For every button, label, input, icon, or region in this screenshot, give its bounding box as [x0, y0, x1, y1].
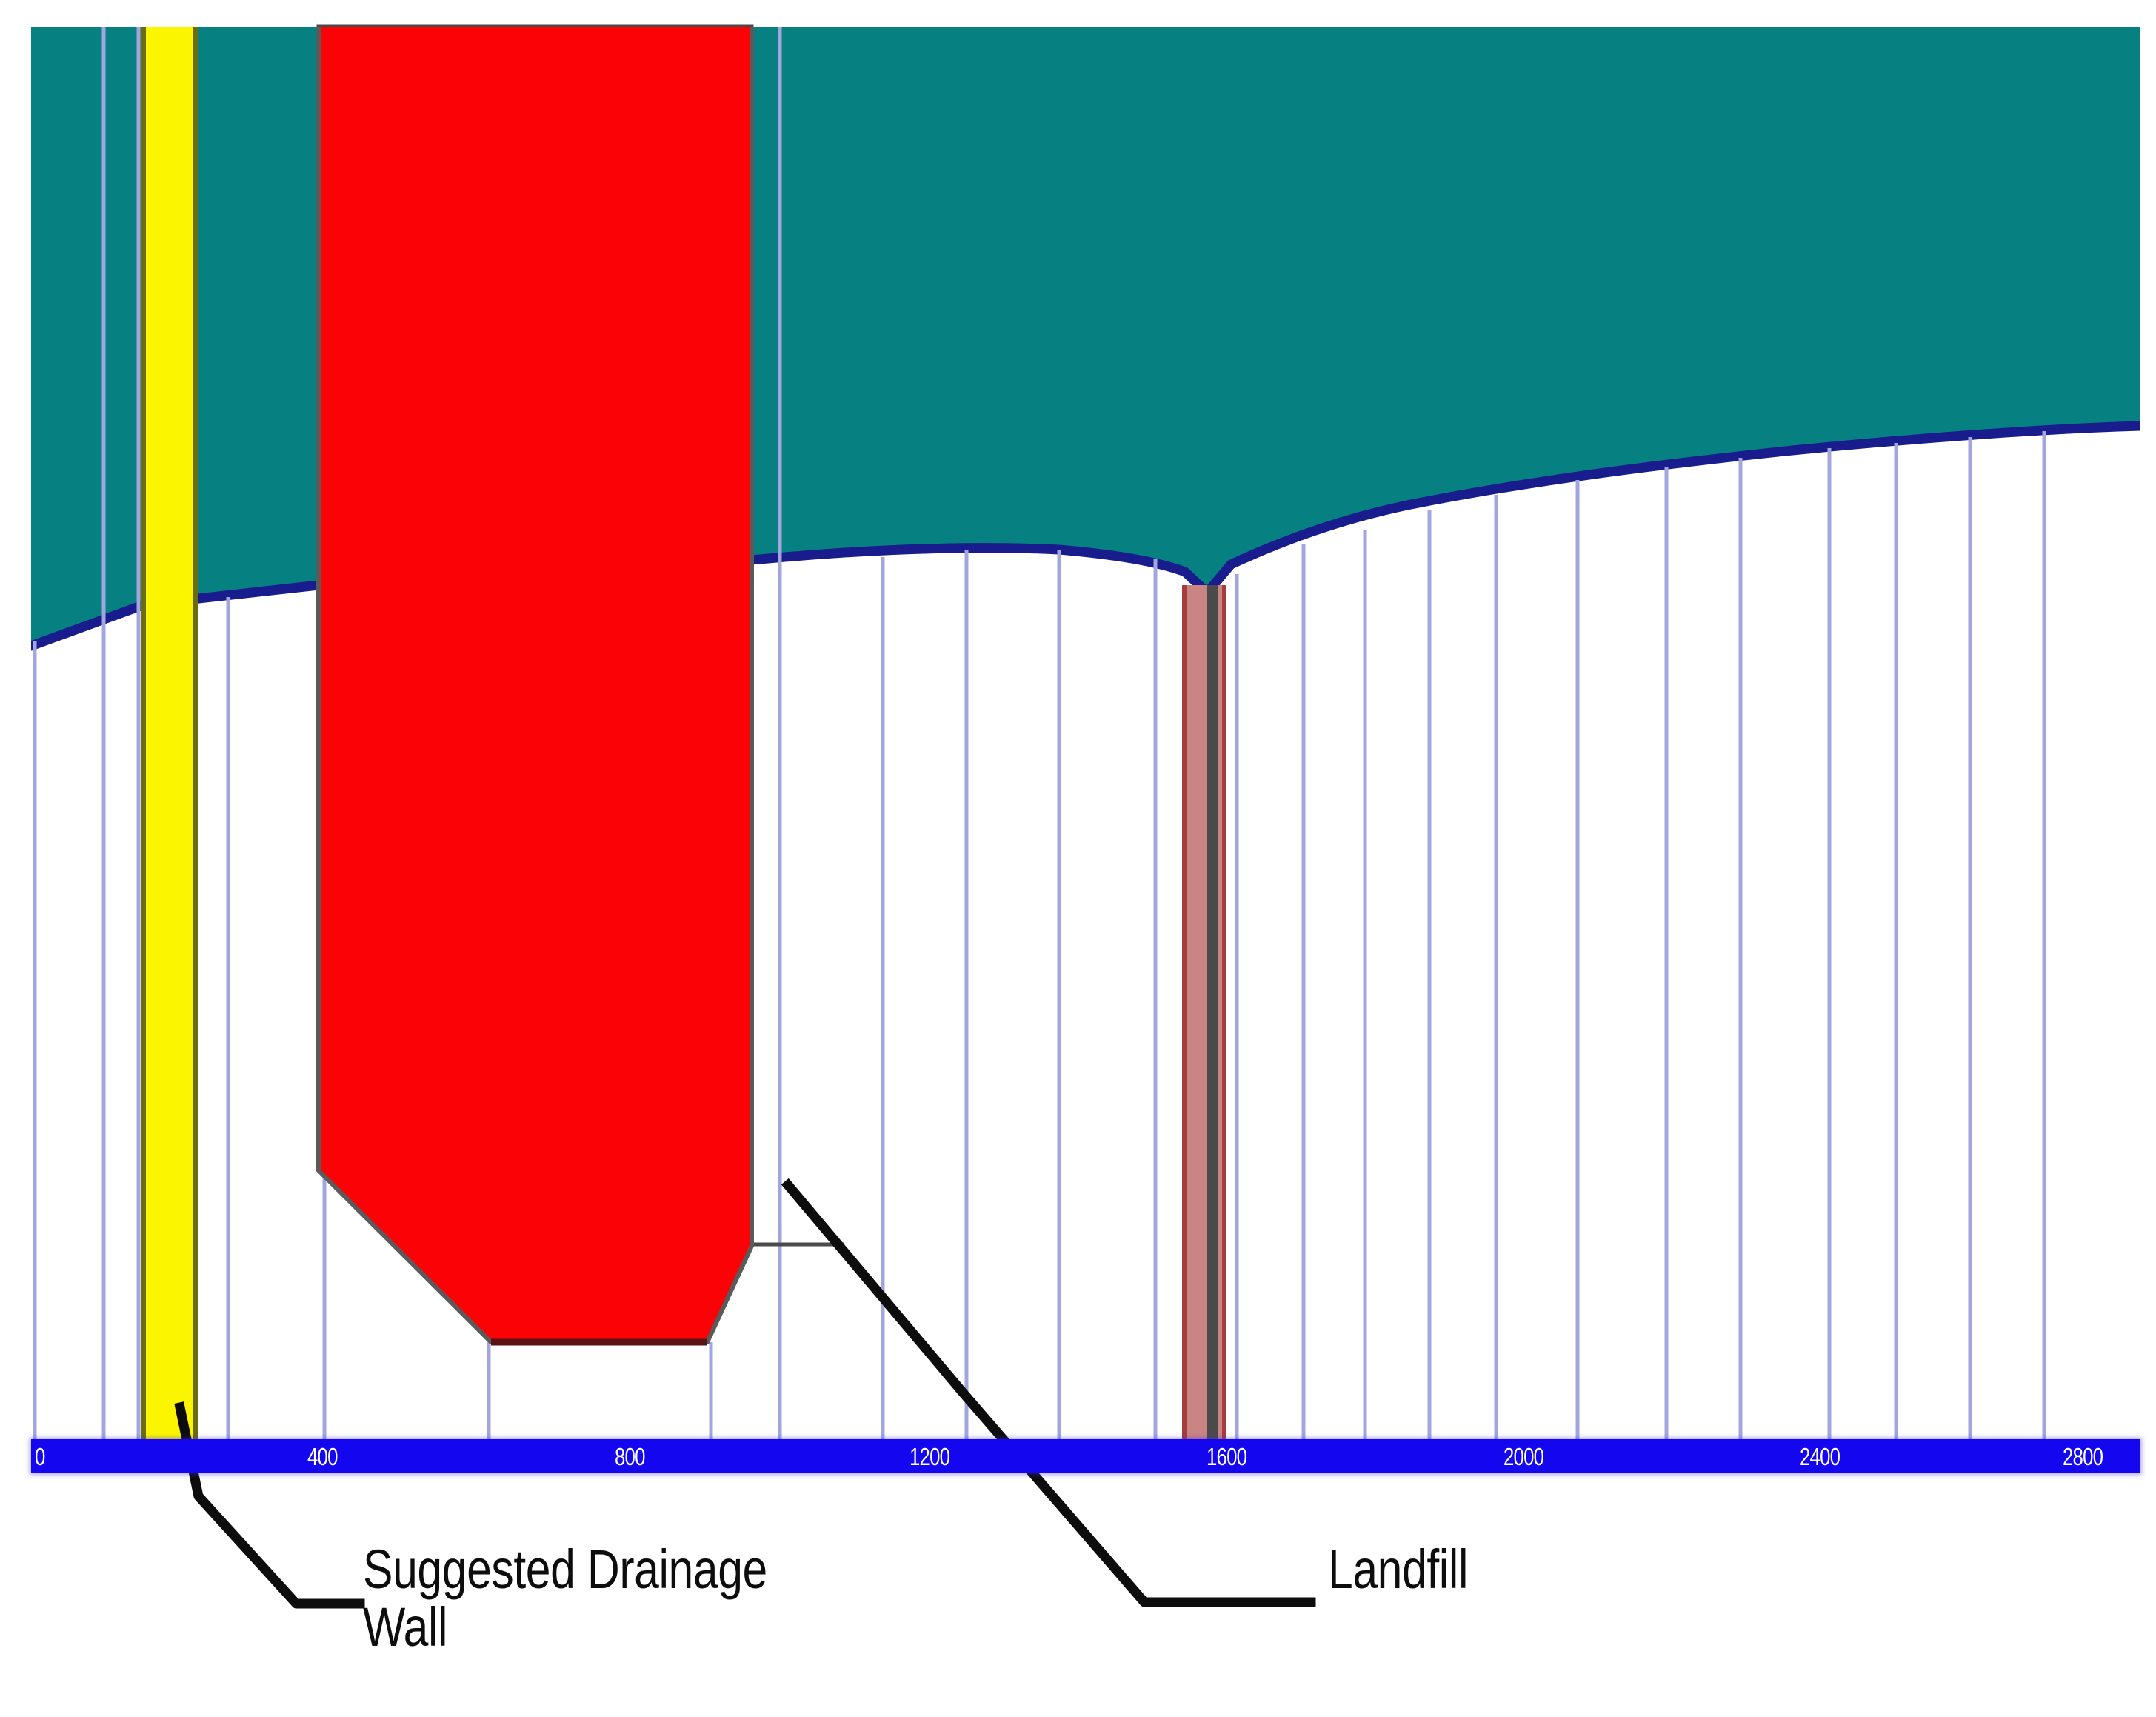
borehole-column — [1182, 585, 1226, 1473]
axis-tick-label-400: 400 — [307, 1440, 338, 1473]
callout-drainage-wall-line1: Suggested Drainage — [363, 1538, 767, 1600]
axis-tick-label-800: 800 — [615, 1440, 645, 1473]
landfill-leader-line — [788, 1185, 1311, 1602]
drainage-wall-yellow — [141, 27, 198, 1473]
landfill-cross-section-figure: 0 400 800 1200 1600 2000 2400 2800 Sugge… — [0, 0, 2156, 1717]
axis-tick-label-2000: 2000 — [1503, 1440, 1543, 1473]
drainage-wall-leader-line — [180, 1407, 360, 1604]
axis-tick-label-1600: 1600 — [1207, 1440, 1246, 1473]
axis-tick-label-2800: 2800 — [2063, 1440, 2103, 1473]
callout-drainage-wall-line2: Wall — [363, 1596, 447, 1658]
callout-label-landfill: Landfill — [1328, 1541, 1753, 1598]
axis-tick-label-0: 0 — [35, 1440, 45, 1473]
axis-tick-label-1200: 1200 — [910, 1440, 949, 1473]
callout-label-drainage-wall: Suggested DrainageWall — [363, 1541, 940, 1656]
axis-tick-label-2400: 2400 — [1800, 1440, 1840, 1473]
callout-landfill-line1: Landfill — [1328, 1538, 1468, 1600]
figure-root: 0 400 800 1200 1600 2000 2400 2800 Sugge… — [0, 0, 2156, 1717]
